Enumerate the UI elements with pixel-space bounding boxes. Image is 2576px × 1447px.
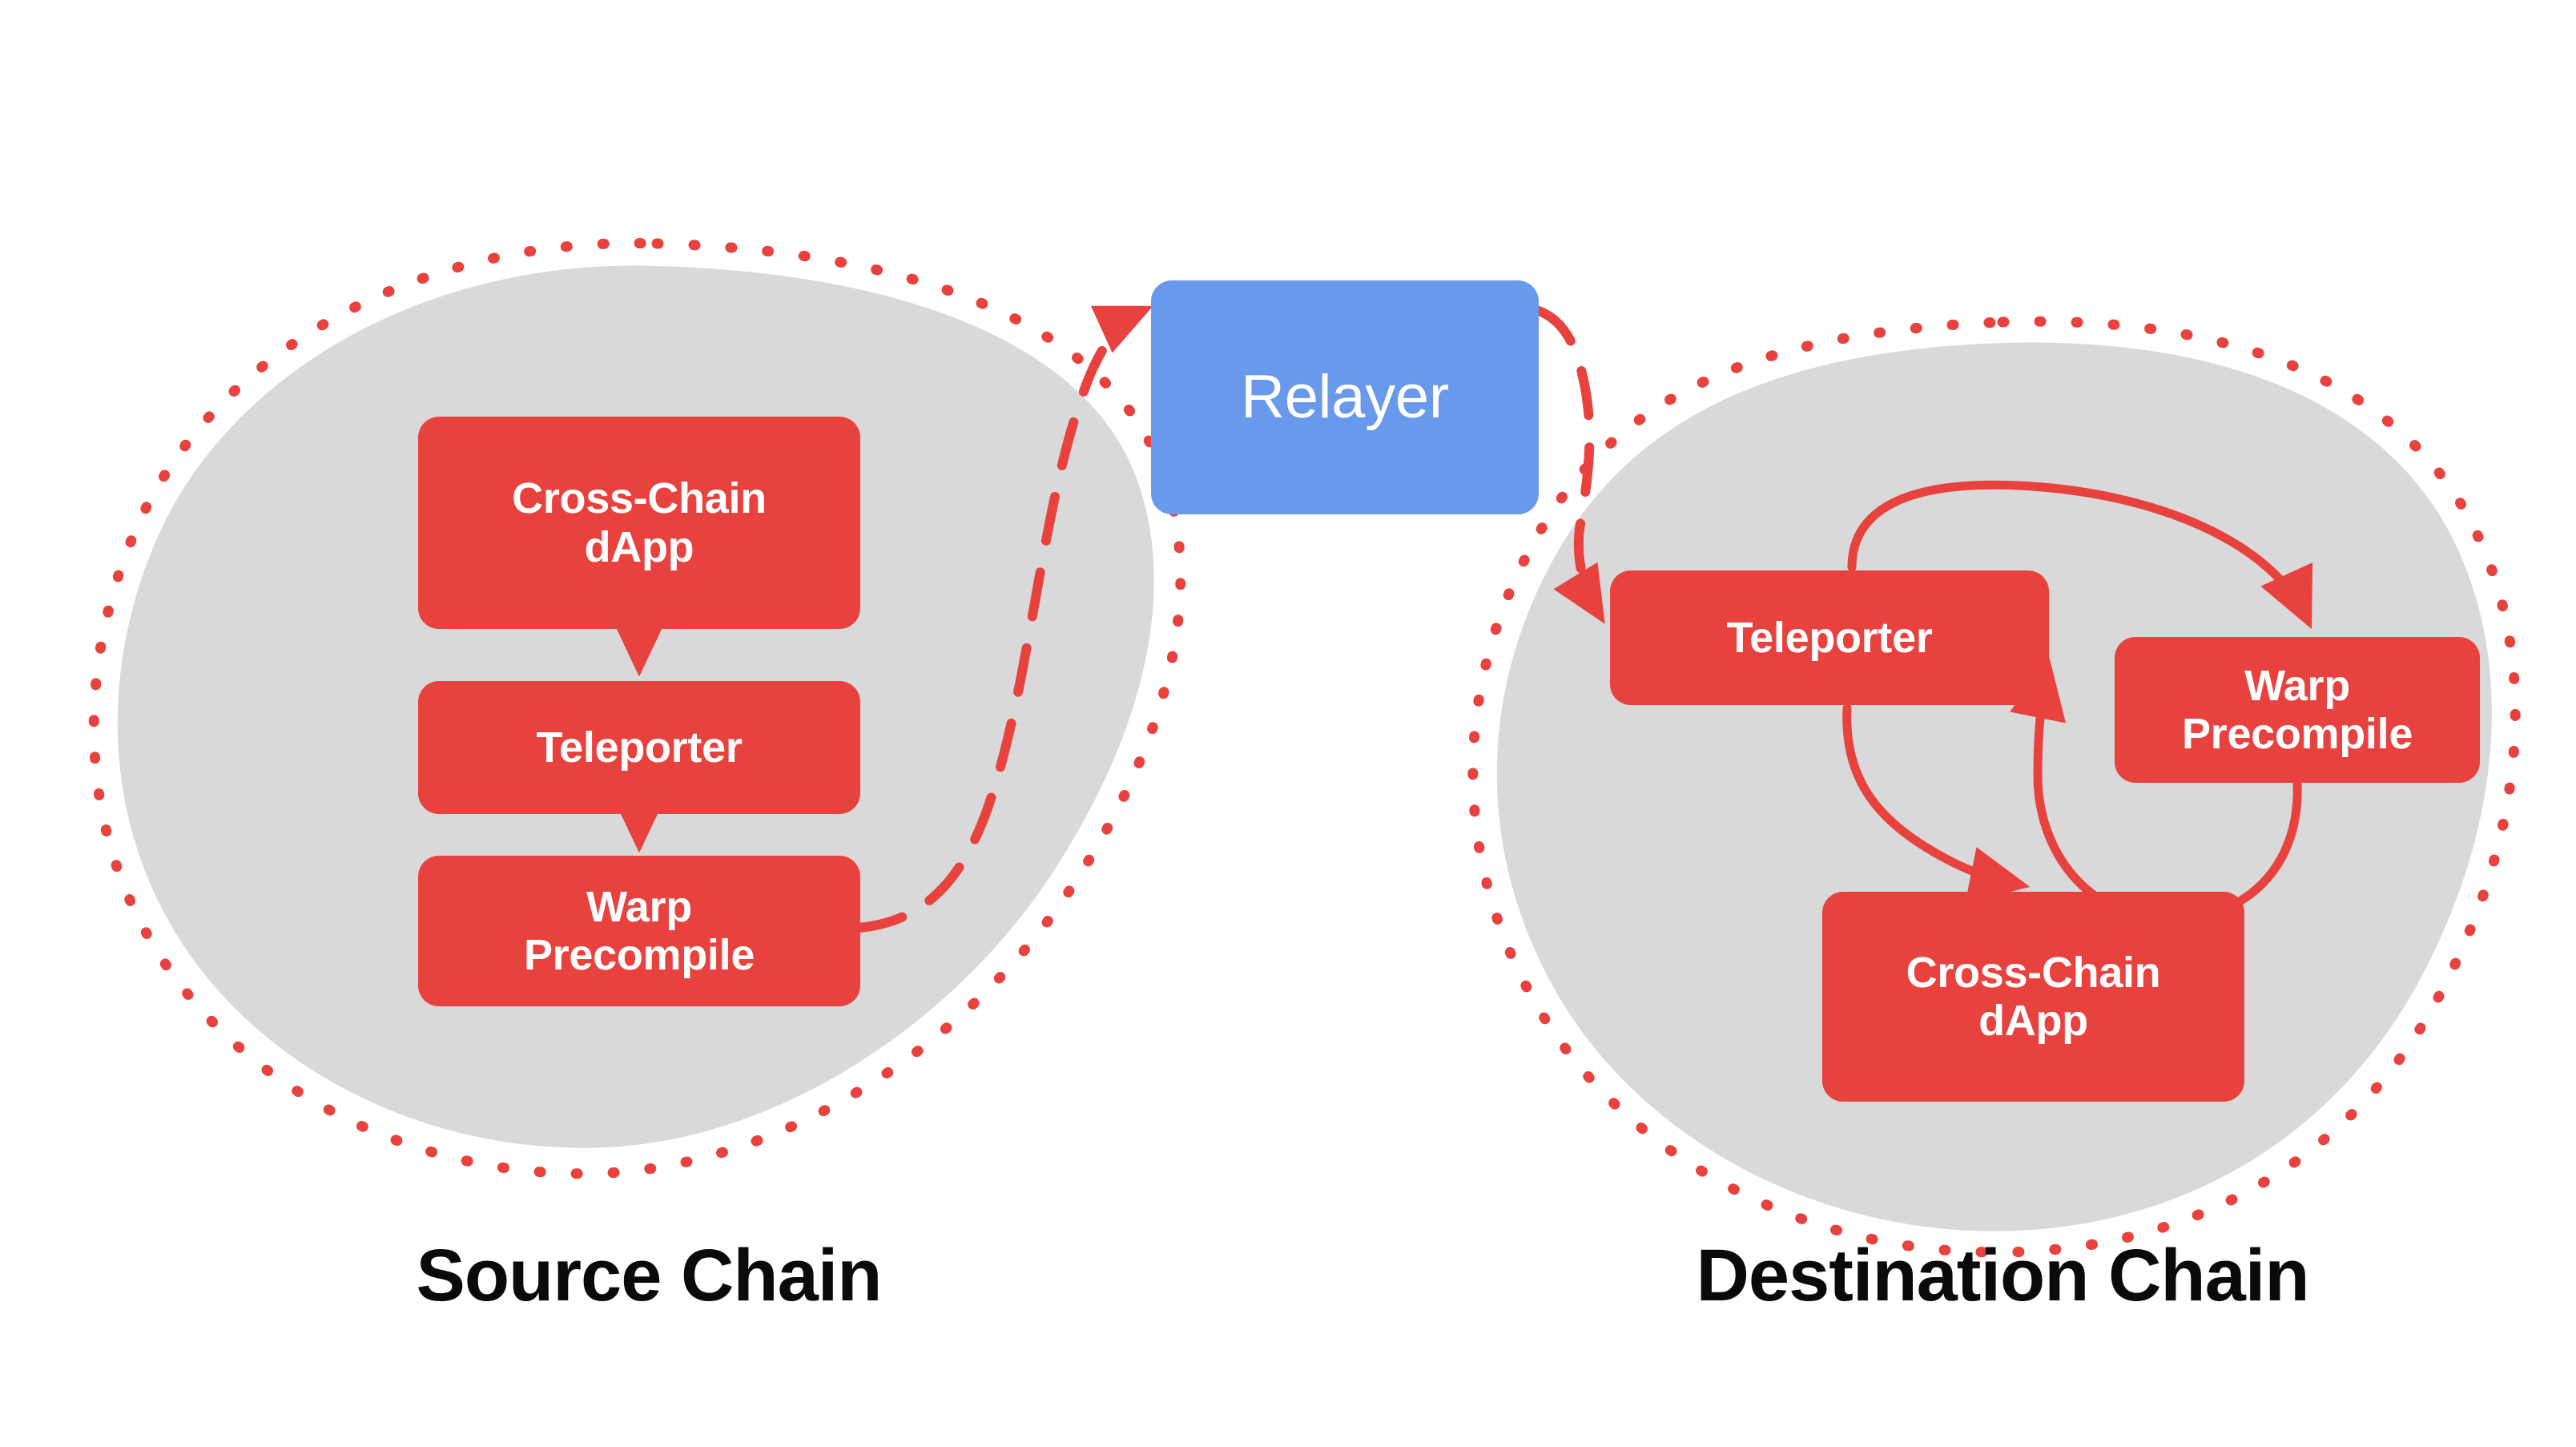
node-destination-cross-chain-dapp[interactable]: Cross-Chain dApp [1822, 892, 2244, 1102]
node-destination-teleporter[interactable]: Teleporter [1610, 570, 2049, 705]
node-source-teleporter-label: Teleporter [536, 723, 742, 772]
diagram-canvas: Cross-Chain dApp Teleporter Warp Precomp… [0, 0, 2576, 1447]
node-label-line-2: dApp [585, 523, 694, 571]
node-relayer-label: Relayer [1241, 363, 1449, 431]
node-destination-warp-precompile[interactable]: Warp Precompile [2115, 637, 2480, 783]
node-label-line-2: dApp [1978, 997, 2088, 1045]
node-source-teleporter[interactable]: Teleporter [418, 681, 860, 814]
node-label-line-1: Warp [586, 883, 692, 931]
node-label-line-1: Cross-Chain [512, 474, 767, 522]
node-source-cross-chain-dapp[interactable]: Cross-Chain dApp [418, 417, 860, 629]
node-destination-teleporter-label: Teleporter [1726, 614, 1932, 662]
node-source-warp-precompile[interactable]: Warp Precompile [418, 856, 860, 1006]
node-destination-warp-precompile-label: Warp Precompile [2182, 662, 2413, 759]
node-label-line-2: Precompile [524, 931, 755, 979]
node-source-cross-chain-dapp-label: Cross-Chain dApp [512, 474, 767, 571]
node-relayer[interactable]: Relayer [1151, 280, 1539, 514]
node-destination-cross-chain-dapp-label: Cross-Chain dApp [1906, 949, 2161, 1046]
node-label-line-1: Warp [2244, 662, 2350, 710]
node-source-warp-precompile-label: Warp Precompile [524, 883, 755, 980]
node-label-line-1: Cross-Chain [1906, 949, 2161, 997]
destination-chain-region [1473, 321, 2515, 1252]
node-label-line-2: Precompile [2182, 710, 2413, 758]
label-source-chain: Source Chain [144, 1234, 1153, 1318]
label-destination-chain: Destination Chain [1466, 1234, 2539, 1318]
